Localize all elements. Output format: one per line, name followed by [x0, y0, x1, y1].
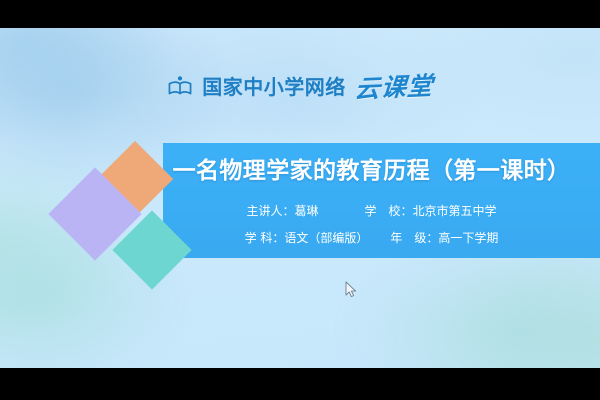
open-book-icon	[167, 74, 193, 100]
subject-value: 语文（部编版）	[284, 232, 368, 244]
presenter-value: 葛琳	[294, 205, 318, 217]
presenter-label: 主讲人：	[246, 205, 294, 217]
title-banner: 一名物理学家的教育历程（第一课时） 主讲人：葛琳学 校：北京市第五中学 学 科：…	[163, 143, 600, 258]
lesson-title: 一名物理学家的教育历程（第一课时）	[153, 160, 590, 183]
meta-row-subject-grade: 学 科：语文（部编版）年 级：高一下学期	[163, 232, 600, 244]
video-player-screen: 国家中小学网络 云课堂 一名物理学家的教育历程（第一课时） 主讲人：葛琳学 校：…	[0, 0, 600, 400]
grade-label: 年 级：	[390, 232, 438, 244]
meta-row-presenter-school: 主讲人：葛琳学 校：北京市第五中学	[163, 205, 600, 217]
letterbox-bar-bottom	[0, 368, 600, 400]
letterbox-bar-top	[0, 0, 600, 28]
brand-logo: 国家中小学网络 云课堂	[0, 74, 600, 100]
school-value: 北京市第五中学	[413, 205, 497, 217]
subject-label: 学 科：	[245, 232, 285, 244]
grade-value: 高一下学期	[438, 232, 498, 244]
logo-brush-wordmark: 云课堂	[354, 73, 434, 101]
school-label: 学 校：	[365, 205, 413, 217]
slide-canvas: 国家中小学网络 云课堂 一名物理学家的教育历程（第一课时） 主讲人：葛琳学 校：…	[0, 28, 600, 368]
logo-wordmark: 国家中小学网络	[202, 77, 346, 97]
